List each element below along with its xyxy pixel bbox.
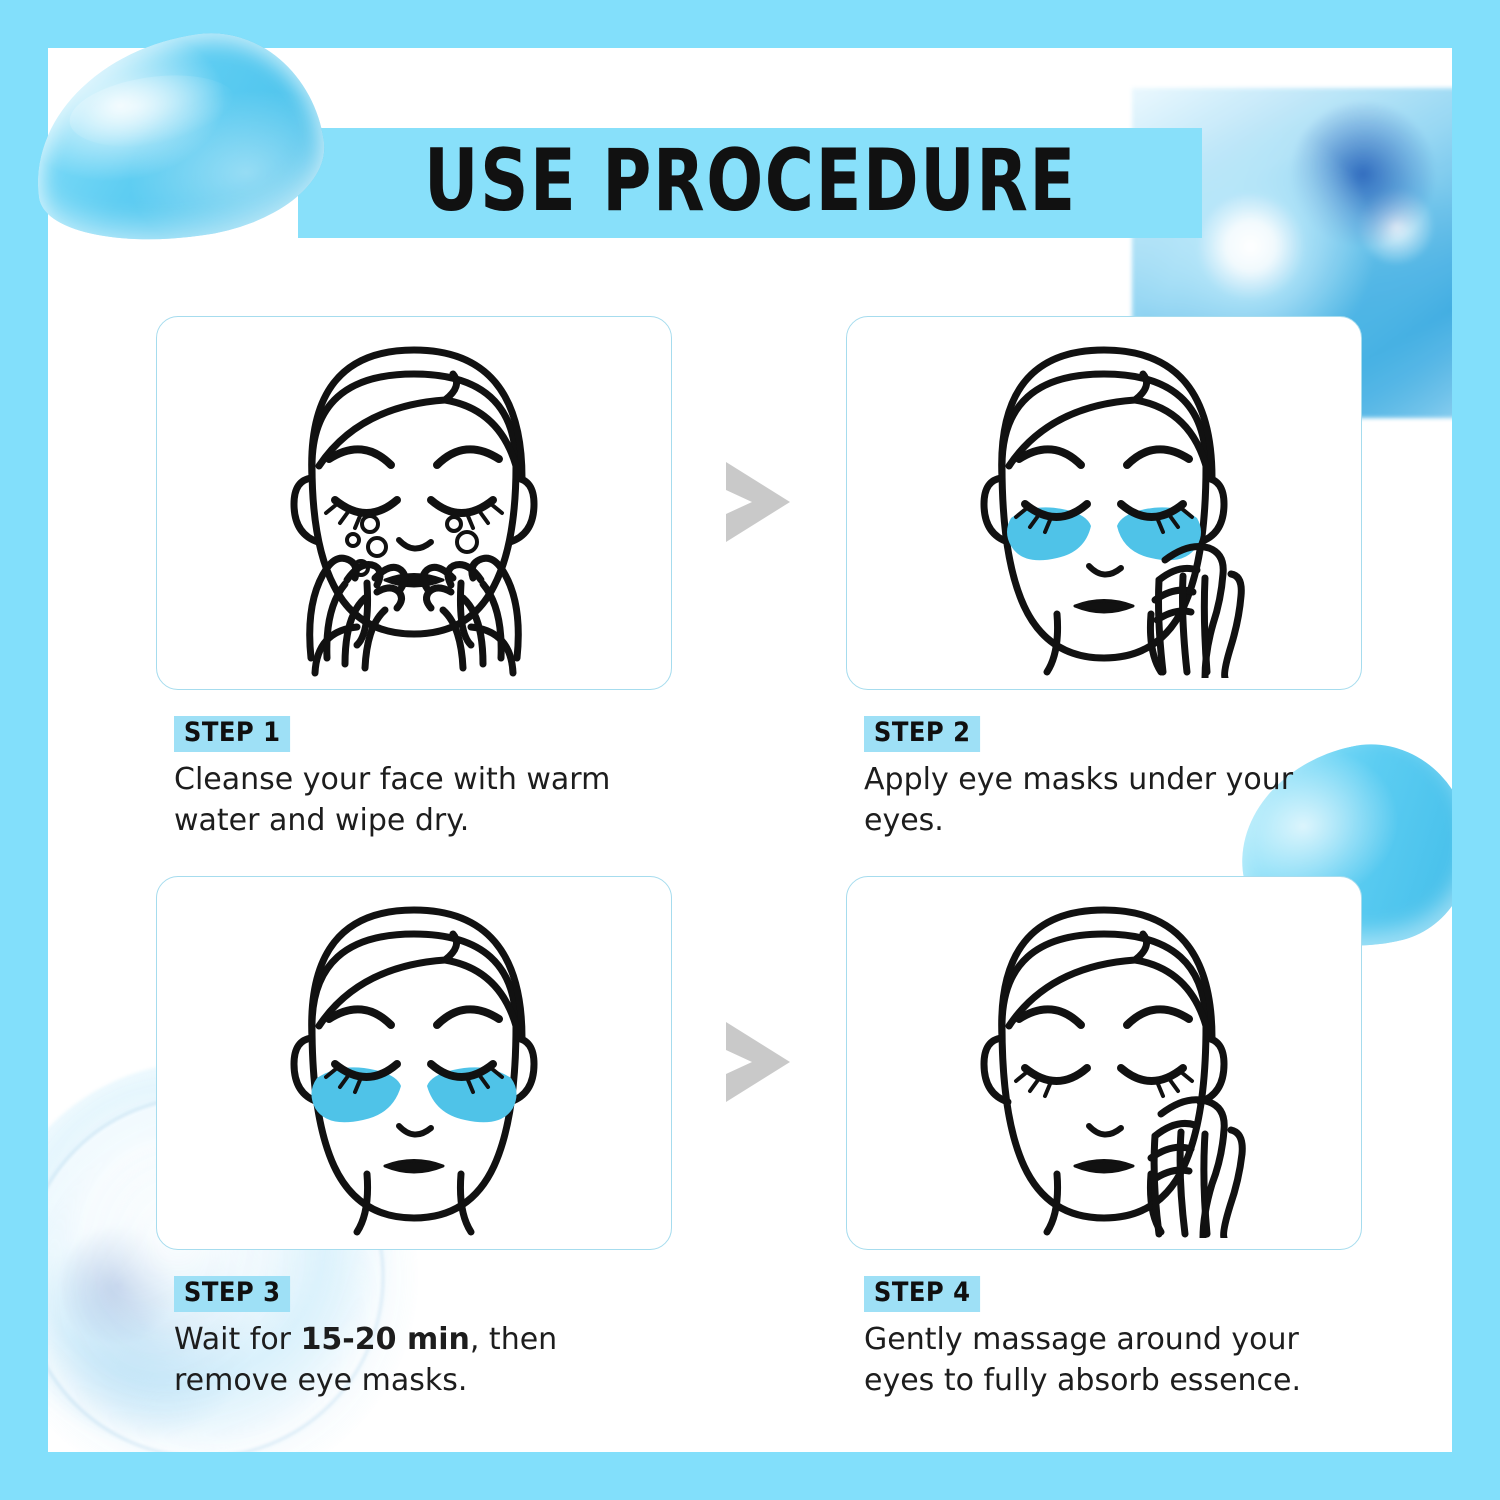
page-title: USE PROCEDURE bbox=[48, 128, 1452, 238]
steps-row-2: STEP 3 Wait for 15-20 min, then remove e… bbox=[156, 876, 1396, 1436]
step-label-1: STEP 1 bbox=[174, 716, 290, 752]
step-label-3: STEP 3 bbox=[174, 1276, 290, 1312]
step-description-4: Gently massage around your eyes to fully… bbox=[864, 1320, 1344, 1400]
face-resting-eye-patches-icon bbox=[249, 888, 579, 1238]
illustration-massage bbox=[939, 888, 1269, 1238]
steps-row-1: STEP 1 Cleanse your face with warm water… bbox=[156, 316, 1396, 876]
poster-inner-panel: USE PROCEDURE bbox=[48, 48, 1452, 1452]
step-description-2: Apply eye masks under your eyes. bbox=[864, 760, 1344, 840]
step-description-3: Wait for 15-20 min, then remove eye mask… bbox=[174, 1320, 654, 1400]
step-card-3: STEP 3 Wait for 15-20 min, then remove e… bbox=[156, 876, 672, 1401]
step-label-2: STEP 2 bbox=[864, 716, 980, 752]
illustration-apply-patches bbox=[939, 328, 1269, 678]
illustration-card-4 bbox=[846, 876, 1362, 1250]
step-description-1: Cleanse your face with warm water and wi… bbox=[174, 760, 654, 840]
step-description-2-text: Apply eye masks under your eyes. bbox=[864, 762, 1293, 837]
illustration-card-2 bbox=[846, 316, 1362, 690]
illustration-resting-with-patches bbox=[249, 888, 579, 1238]
step-description-4-text: Gently massage around your eyes to fully… bbox=[864, 1322, 1301, 1397]
illustration-face-washing bbox=[249, 328, 579, 678]
title-text: USE PROCEDURE bbox=[424, 138, 1077, 224]
step-card-2: STEP 2 Apply eye masks under your eyes. bbox=[846, 316, 1362, 841]
step-label-4: STEP 4 bbox=[864, 1276, 980, 1312]
chevron-right-icon bbox=[718, 456, 798, 548]
infographic-poster: USE PROCEDURE bbox=[0, 0, 1500, 1500]
steps-grid: STEP 1 Cleanse your face with warm water… bbox=[156, 316, 1396, 1436]
step-description-1-text: Cleanse your face with warm water and wi… bbox=[174, 762, 610, 837]
step-description-3-bold: 15-20 min bbox=[301, 1322, 470, 1357]
title-highlight-band: USE PROCEDURE bbox=[298, 128, 1203, 238]
face-massage-icon bbox=[939, 888, 1269, 1238]
step-description-3-pre: Wait for bbox=[174, 1322, 301, 1357]
step-card-4: STEP 4 Gently massage around your eyes t… bbox=[846, 876, 1362, 1401]
chevron-right-icon bbox=[718, 1016, 798, 1108]
face-washing-icon bbox=[249, 328, 579, 678]
illustration-card-1 bbox=[156, 316, 672, 690]
step-card-1: STEP 1 Cleanse your face with warm water… bbox=[156, 316, 672, 841]
illustration-card-3 bbox=[156, 876, 672, 1250]
face-apply-eye-patches-icon bbox=[939, 328, 1269, 678]
